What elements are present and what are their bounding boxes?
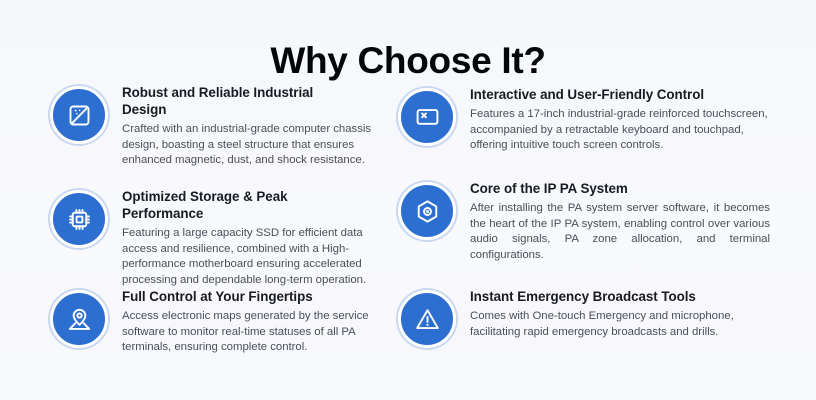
touchscreen-monitor-icon: [398, 88, 456, 146]
feature-text: Instant Emergency Broadcast Tools Comes …: [470, 288, 816, 340]
feature-item-full-control-at-your-fingertips: Full Control at Your Fingertips Access e…: [50, 284, 350, 384]
warning-triangle-icon: [398, 290, 456, 348]
feature-title: Instant Emergency Broadcast Tools: [470, 288, 816, 305]
page-title: Why Choose It?: [0, 39, 816, 83]
feature-description: Features a 17-inch industrial-grade rein…: [470, 107, 770, 154]
feature-text: Optimized Storage & Peak Performance Fea…: [122, 188, 350, 288]
feature-text: Robust and Reliable Industrial Design Cr…: [122, 84, 350, 169]
feature-text: Interactive and User-Friendly Control Fe…: [470, 86, 816, 154]
feature-item-robust-reliable-industrial-design: Robust and Reliable Industrial Design Cr…: [50, 84, 350, 184]
cpu-chip-icon: [50, 190, 108, 248]
feature-item-optimized-storage-peak-performance: Optimized Storage & Peak Performance Fea…: [50, 184, 350, 284]
feature-description: Access electronic maps generated by the …: [122, 309, 374, 356]
feature-description: After installing the PA system server so…: [470, 201, 770, 263]
feature-text: Full Control at Your Fingertips Access e…: [122, 288, 350, 356]
features-column-left: Robust and Reliable Industrial Design Cr…: [0, 84, 350, 384]
features-grid: Robust and Reliable Industrial Design Cr…: [0, 84, 816, 384]
feature-title: Interactive and User-Friendly Control: [470, 86, 816, 103]
feature-title: Core of the IP PA System: [470, 180, 816, 197]
why-choose-it-section: Why Choose It? Robust and Reliable Indus: [0, 0, 816, 400]
feature-item-instant-emergency-broadcast-tools: Instant Emergency Broadcast Tools Comes …: [398, 284, 816, 384]
feature-title: Robust and Reliable Industrial Design: [122, 84, 350, 118]
feature-description: Crafted with an industrial-grade compute…: [122, 122, 374, 169]
feature-description: Featuring a large capacity SSD for effic…: [122, 226, 374, 288]
feature-text: Core of the IP PA System After installin…: [470, 180, 816, 263]
features-column-right: Interactive and User-Friendly Control Fe…: [350, 84, 816, 384]
feature-item-interactive-user-friendly-control: Interactive and User-Friendly Control Fe…: [398, 84, 816, 180]
feature-description: Comes with One-touch Emergency and micro…: [470, 309, 770, 340]
chassis-panel-icon: [50, 86, 108, 144]
feature-item-core-of-the-ip-pa-system: Core of the IP PA System After installin…: [398, 180, 816, 284]
hexagon-core-icon: [398, 182, 456, 240]
feature-title: Optimized Storage & Peak Performance: [122, 188, 350, 222]
map-pin-icon: [50, 290, 108, 348]
feature-title: Full Control at Your Fingertips: [122, 288, 350, 305]
